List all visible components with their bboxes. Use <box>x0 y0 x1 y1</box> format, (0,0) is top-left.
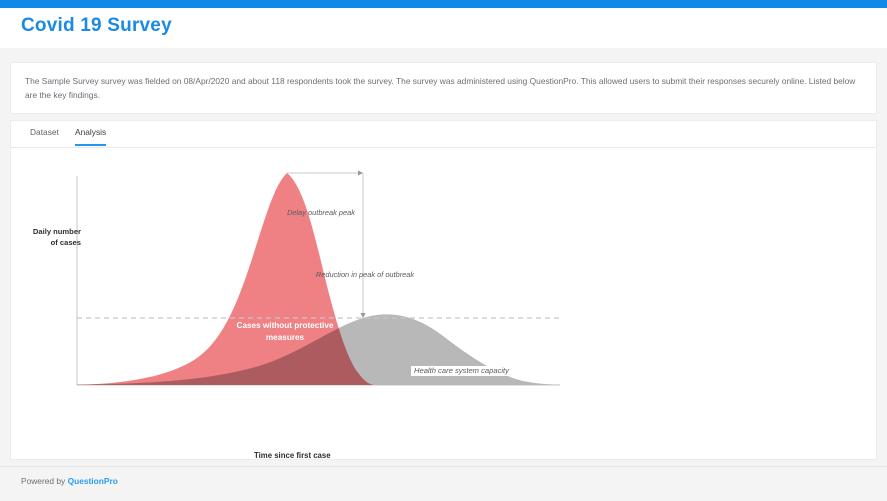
top-accent-bar <box>0 0 887 8</box>
analysis-card: Dataset Analysis Dai <box>10 120 877 460</box>
annotation-delay-outbreak-peak: Delay outbreak peak <box>266 208 376 218</box>
x-axis-label: Time since first case <box>254 451 331 460</box>
epidemic-curve-chart: Daily number of cases Time since first c… <box>11 148 876 459</box>
powered-by-prefix: Powered by <box>21 476 68 486</box>
reduction-peak-arrowhead <box>360 313 365 318</box>
tab-analysis[interactable]: Analysis <box>75 127 106 146</box>
curve-label-with-measures: Cases with protective measures <box>307 404 427 427</box>
questionpro-link[interactable]: QuestionPro <box>68 476 118 486</box>
annotation-reduction-in-peak: Reduction in peak of outbreak <box>315 270 415 280</box>
powered-by-text: Powered by QuestionPro <box>21 476 118 486</box>
annotation-healthcare-capacity: Health care system capacity <box>411 366 567 376</box>
chart-canvas <box>11 148 876 459</box>
survey-intro-card: The Sample Survey survey was fielded on … <box>10 62 877 114</box>
delay-peak-arrowhead <box>358 170 363 175</box>
curve-label-without-measures: Cases without protective measures <box>225 320 345 343</box>
page-footer: Powered by QuestionPro <box>0 466 887 501</box>
y-axis-label: Daily number of cases <box>29 227 81 248</box>
survey-report-page: Covid 19 Survey The Sample Survey survey… <box>0 0 887 500</box>
page-header: Covid 19 Survey <box>0 8 887 48</box>
survey-intro-text: The Sample Survey survey was fielded on … <box>25 74 863 102</box>
page-title: Covid 19 Survey <box>21 15 172 37</box>
tab-dataset[interactable]: Dataset <box>30 127 59 144</box>
tab-bar: Dataset Analysis <box>11 121 876 148</box>
y-axis-label-text: Daily number of cases <box>33 227 81 247</box>
